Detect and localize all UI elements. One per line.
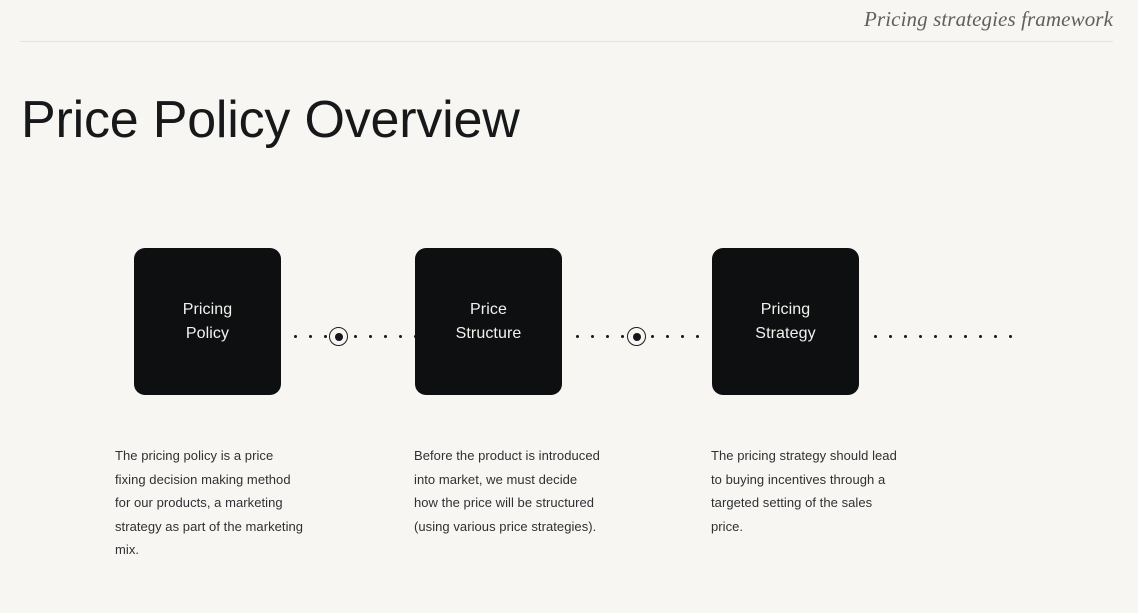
description-price-structure: Before the product is introduced into ma… xyxy=(414,444,604,538)
description-pricing-strategy: The pricing strategy should lead to buyi… xyxy=(711,444,901,538)
node-label-line-1: Price xyxy=(470,301,507,318)
connector-marker-1 xyxy=(329,327,348,346)
slide-header: Pricing strategies framework xyxy=(0,0,1138,40)
timeline-node-pricing-strategy[interactable]: Pricing Strategy xyxy=(712,248,859,395)
node-label-line-2: Policy xyxy=(186,325,229,342)
node-label-line-2: Strategy xyxy=(755,325,815,342)
node-label: Pricing Policy xyxy=(183,298,233,346)
header-title: Pricing strategies framework xyxy=(864,7,1113,32)
timeline-node-price-structure[interactable]: Price Structure xyxy=(415,248,562,395)
connector-marker-2 xyxy=(627,327,646,346)
connector-dotted-line-3 xyxy=(868,335,1013,338)
node-label-line-1: Pricing xyxy=(761,301,811,318)
connector-dotted-line-1 xyxy=(288,335,418,338)
node-label: Price Structure xyxy=(456,298,522,346)
timeline: Pricing Policy Price Structure Pricing S… xyxy=(0,248,1138,396)
node-label-line-2: Structure xyxy=(456,325,522,342)
node-label-line-1: Pricing xyxy=(183,301,233,318)
node-label: Pricing Strategy xyxy=(755,298,815,346)
page-title: Price Policy Overview xyxy=(21,90,520,150)
header-divider xyxy=(20,41,1113,42)
description-pricing-policy: The pricing policy is a price fixing dec… xyxy=(115,444,305,562)
timeline-node-pricing-policy[interactable]: Pricing Policy xyxy=(134,248,281,395)
